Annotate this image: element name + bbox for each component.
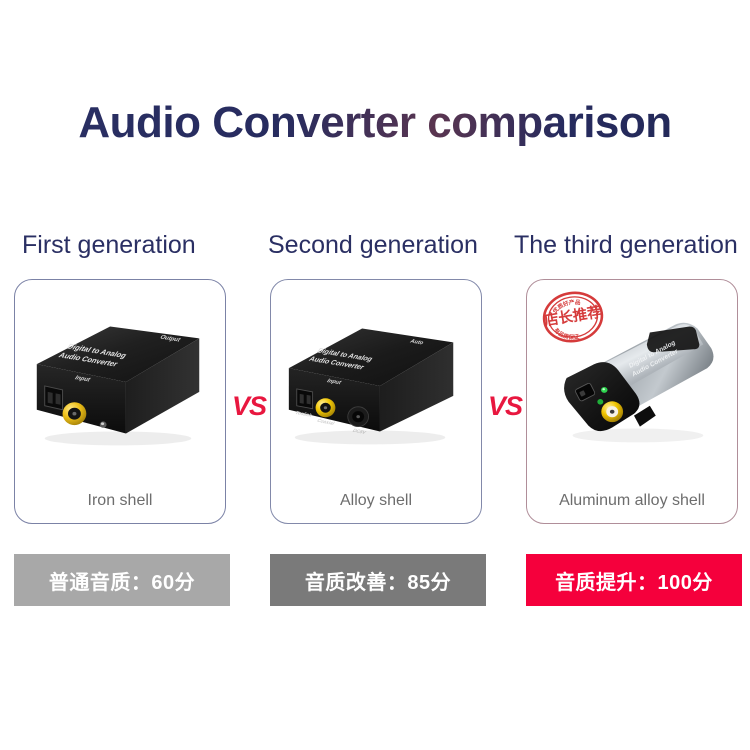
generation-heading-second: Second generation bbox=[268, 231, 478, 260]
product-card-first-generation[interactable]: Digital to Analog Audio Converter Output… bbox=[14, 279, 226, 524]
score-bar-third-generation: 音质提升：100分 bbox=[526, 554, 742, 606]
page-title: Audio Converter comparison bbox=[0, 98, 750, 148]
vs-separator-2: VS bbox=[488, 391, 522, 422]
device-image-alloy-shell: Digital to Analog Audio Converter Auto I… bbox=[271, 286, 481, 476]
generation-heading-first: First generation bbox=[22, 231, 196, 260]
score-bar-first-generation: 普通音质：60分 bbox=[14, 554, 230, 606]
score-bar-second-generation: 音质改善：85分 bbox=[270, 554, 486, 606]
device-image-iron-shell: Digital to Analog Audio Converter Output… bbox=[15, 286, 225, 476]
card-caption-iron-shell: Iron shell bbox=[15, 492, 225, 510]
card-caption-alloy-shell: Alloy shell bbox=[271, 492, 481, 510]
product-card-second-generation[interactable]: Digital to Analog Audio Converter Auto I… bbox=[270, 279, 482, 524]
recommendation-stamp: 优质好产品 有品质保证 店长推荐 bbox=[536, 288, 610, 346]
vs-separator-1: VS bbox=[232, 391, 266, 422]
card-caption-aluminum-alloy-shell: Aluminum alloy shell bbox=[527, 492, 737, 510]
generation-heading-third: The third generation bbox=[514, 231, 738, 260]
product-card-third-generation[interactable]: Digital to Analog Audio Converter bbox=[526, 279, 738, 524]
